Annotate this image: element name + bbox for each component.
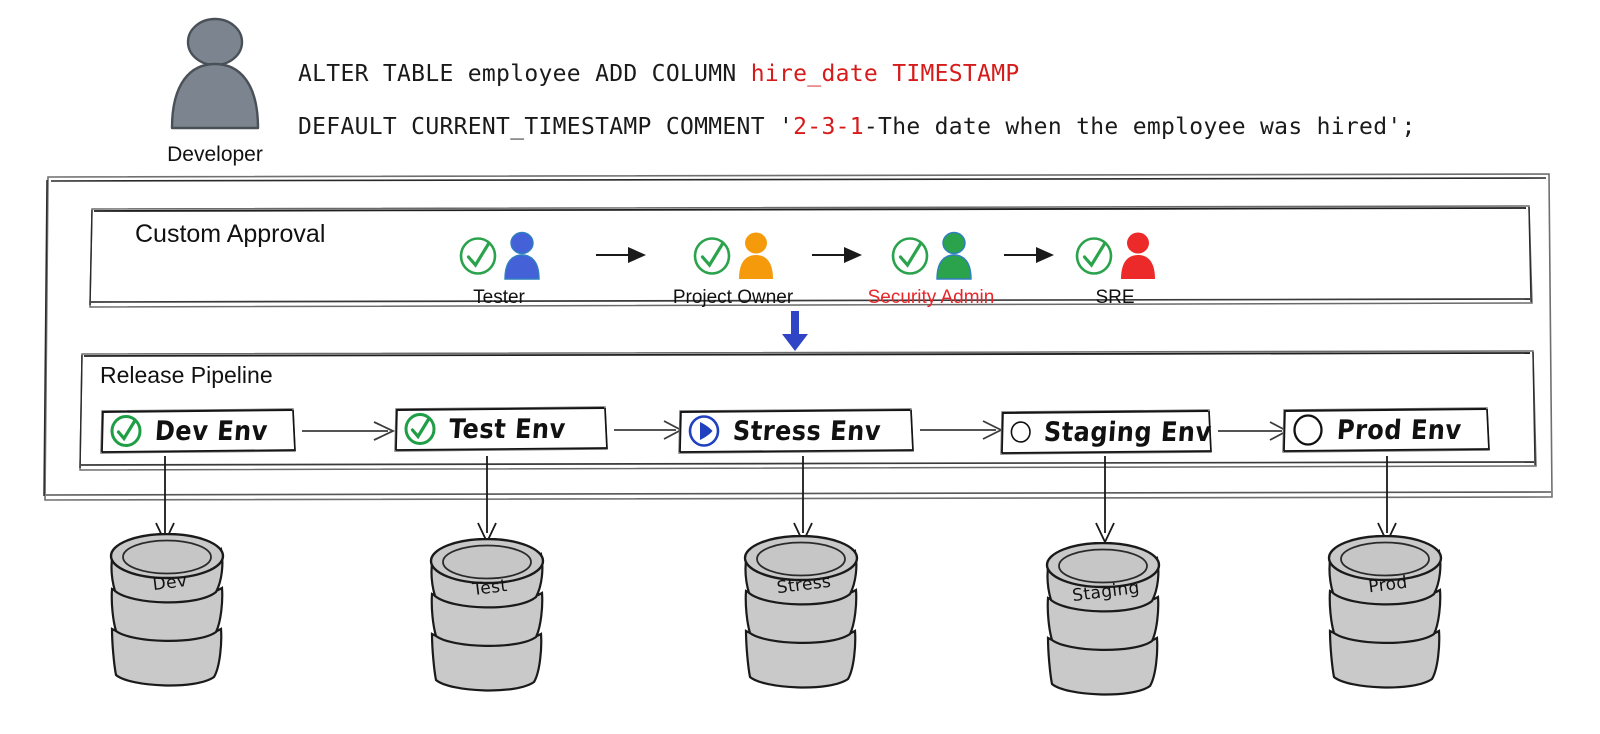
arrow-right-icon	[1216, 418, 1290, 444]
approver-tester[interactable]: Tester	[424, 228, 574, 309]
stage-content: Dev Env	[100, 407, 296, 455]
stage-content: Stress Env	[678, 407, 914, 455]
stage-label: Stress Env	[732, 415, 882, 446]
database-dev[interactable]: Dev	[100, 533, 240, 696]
developer-label: Developer	[150, 143, 280, 167]
sql-statement: ALTER TABLE employee ADD COLUMN hire_dat…	[298, 48, 1498, 154]
approver-project-owner[interactable]: Project Owner	[658, 228, 808, 309]
sql-line-2: DEFAULT CURRENT_TIMESTAMP COMMENT '2-3-1…	[298, 101, 1498, 154]
stage-label: Staging Env	[1043, 416, 1213, 447]
stage-staging-env[interactable]: Staging Env	[1000, 408, 1212, 456]
database-prod[interactable]: Prod	[1318, 535, 1458, 698]
person-icon	[150, 16, 280, 136]
sql-line-1: ALTER TABLE employee ADD COLUMN hire_dat…	[298, 48, 1498, 101]
stage-dev-env[interactable]: Dev Env	[100, 407, 296, 455]
check-circle-icon	[456, 234, 500, 278]
person-icon	[735, 231, 777, 281]
sql-line2-highlight: 2-3-1	[793, 114, 864, 140]
approver-security-admin[interactable]: Security Admin	[856, 228, 1006, 309]
check-circle-icon	[690, 234, 734, 278]
stage-label: Prod Env	[1336, 414, 1463, 445]
approver-glyphs	[424, 228, 574, 284]
person-icon	[501, 231, 543, 281]
release-pipeline-title: Release Pipeline	[100, 362, 273, 389]
custom-approval-title: Custom Approval	[135, 220, 325, 249]
arrow-right-icon	[300, 418, 396, 444]
database-staging[interactable]: Staging	[1036, 542, 1176, 705]
check-circle-icon	[1072, 234, 1116, 278]
arrow-down-icon	[1088, 455, 1122, 545]
approver-label: Project Owner	[658, 287, 808, 309]
database-test[interactable]: Test	[420, 538, 560, 701]
stage-label: Dev Env	[154, 415, 269, 446]
arrow-down-icon	[786, 455, 820, 545]
database-cylinder-icon	[1318, 535, 1458, 693]
play-circle-icon	[687, 414, 721, 448]
arrow-down-icon	[148, 455, 182, 545]
sql-line1-highlight: hire_date TIMESTAMP	[751, 61, 1020, 87]
stage-prod-env[interactable]: Prod Env	[1282, 406, 1490, 454]
stage-content: Prod Env	[1282, 406, 1490, 454]
approver-glyphs	[856, 228, 1006, 284]
approver-label: SRE	[1040, 287, 1190, 309]
empty-circle-icon	[1009, 415, 1032, 449]
person-icon	[933, 231, 975, 281]
approver-label: Security Admin	[856, 287, 1006, 309]
sql-line2-tail: -The date when the employee was hired';	[864, 114, 1416, 140]
empty-circle-icon	[1291, 413, 1325, 447]
arrow-down-icon	[1370, 455, 1404, 545]
check-circle-icon	[109, 414, 143, 448]
check-circle-icon	[888, 234, 932, 278]
database-cylinder-icon	[1036, 542, 1176, 700]
diagram-canvas: Developer ALTER TABLE employee ADD COLUM…	[0, 0, 1600, 734]
check-circle-icon	[403, 412, 437, 446]
arrow-right-icon	[594, 243, 648, 267]
approver-label: Tester	[424, 287, 574, 309]
arrow-right-icon	[918, 417, 1004, 443]
database-stress[interactable]: Stress	[734, 535, 874, 698]
stage-label: Test Env	[448, 413, 567, 444]
database-cylinder-icon	[100, 533, 240, 691]
stage-test-env[interactable]: Test Env	[394, 405, 608, 453]
arrow-down-icon	[470, 455, 504, 545]
approver-glyphs	[1040, 228, 1190, 284]
approver-sre[interactable]: SRE	[1040, 228, 1190, 309]
database-cylinder-icon	[734, 535, 874, 693]
person-icon	[1117, 231, 1159, 281]
sql-line2-text: DEFAULT CURRENT_TIMESTAMP COMMENT '	[298, 114, 793, 140]
stage-content: Test Env	[394, 405, 608, 453]
approver-glyphs	[658, 228, 808, 284]
arrow-down-icon	[778, 310, 812, 352]
sql-line1-text: ALTER TABLE employee ADD COLUMN	[298, 61, 751, 87]
arrow-right-icon	[612, 417, 684, 443]
database-cylinder-icon	[420, 538, 560, 696]
stage-content: Staging Env	[1000, 408, 1212, 456]
stage-stress-env[interactable]: Stress Env	[678, 407, 914, 455]
developer-actor: Developer	[150, 16, 280, 167]
